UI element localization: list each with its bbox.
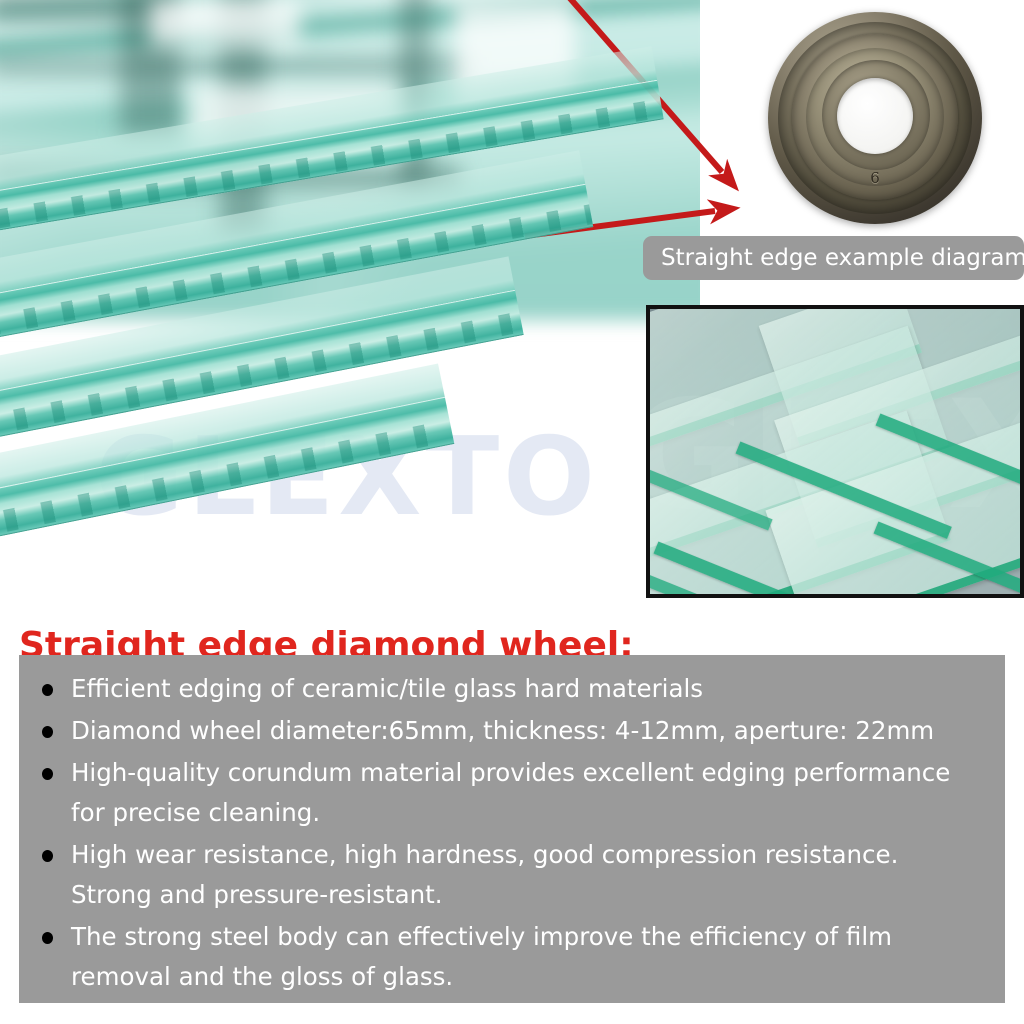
features-list: Efficient edging of ceramic/tile glass h… [39, 669, 985, 997]
bullet-icon [42, 684, 53, 696]
caption-badge-straight-edge-example: Straight edge example diagram [643, 236, 1024, 280]
diamond-wheel-photo: 6 [756, 6, 1006, 228]
product-infographic-page: GLEXTO 6 Straight edge example diagram G… [0, 0, 1024, 1024]
feature-text: Diamond wheel diameter:65mm, thickness: … [71, 716, 934, 745]
bullet-icon [42, 850, 53, 862]
glass-sheets-inset-photo: GLEXTO [646, 305, 1024, 598]
bullet-icon [42, 768, 53, 780]
list-item: Diamond wheel diameter:65mm, thickness: … [39, 711, 985, 751]
caption-label: Straight edge example diagram [643, 245, 1024, 271]
list-item: High wear resistance, high hardness, goo… [39, 835, 985, 915]
background-highlight [150, 0, 300, 46]
list-item: High-quality corundum material provides … [39, 753, 985, 833]
wheel-stamp-marking: 6 [870, 169, 880, 187]
feature-text: Efficient edging of ceramic/tile glass h… [71, 674, 703, 703]
diamond-wheel-disc: 6 [768, 12, 982, 224]
bullet-icon [42, 932, 53, 944]
stacked-glass-sheets-photo: GLEXTO [0, 0, 700, 600]
list-item: Efficient edging of ceramic/tile glass h… [39, 669, 985, 709]
feature-text: The strong steel body can effectively im… [71, 922, 892, 991]
feature-text: High wear resistance, high hardness, goo… [71, 840, 898, 909]
list-item: The strong steel body can effectively im… [39, 917, 985, 997]
bullet-icon [42, 726, 53, 738]
feature-text: High-quality corundum material provides … [71, 758, 950, 827]
wheel-center-bore [837, 78, 913, 154]
features-panel: Efficient edging of ceramic/tile glass h… [19, 655, 1005, 1003]
